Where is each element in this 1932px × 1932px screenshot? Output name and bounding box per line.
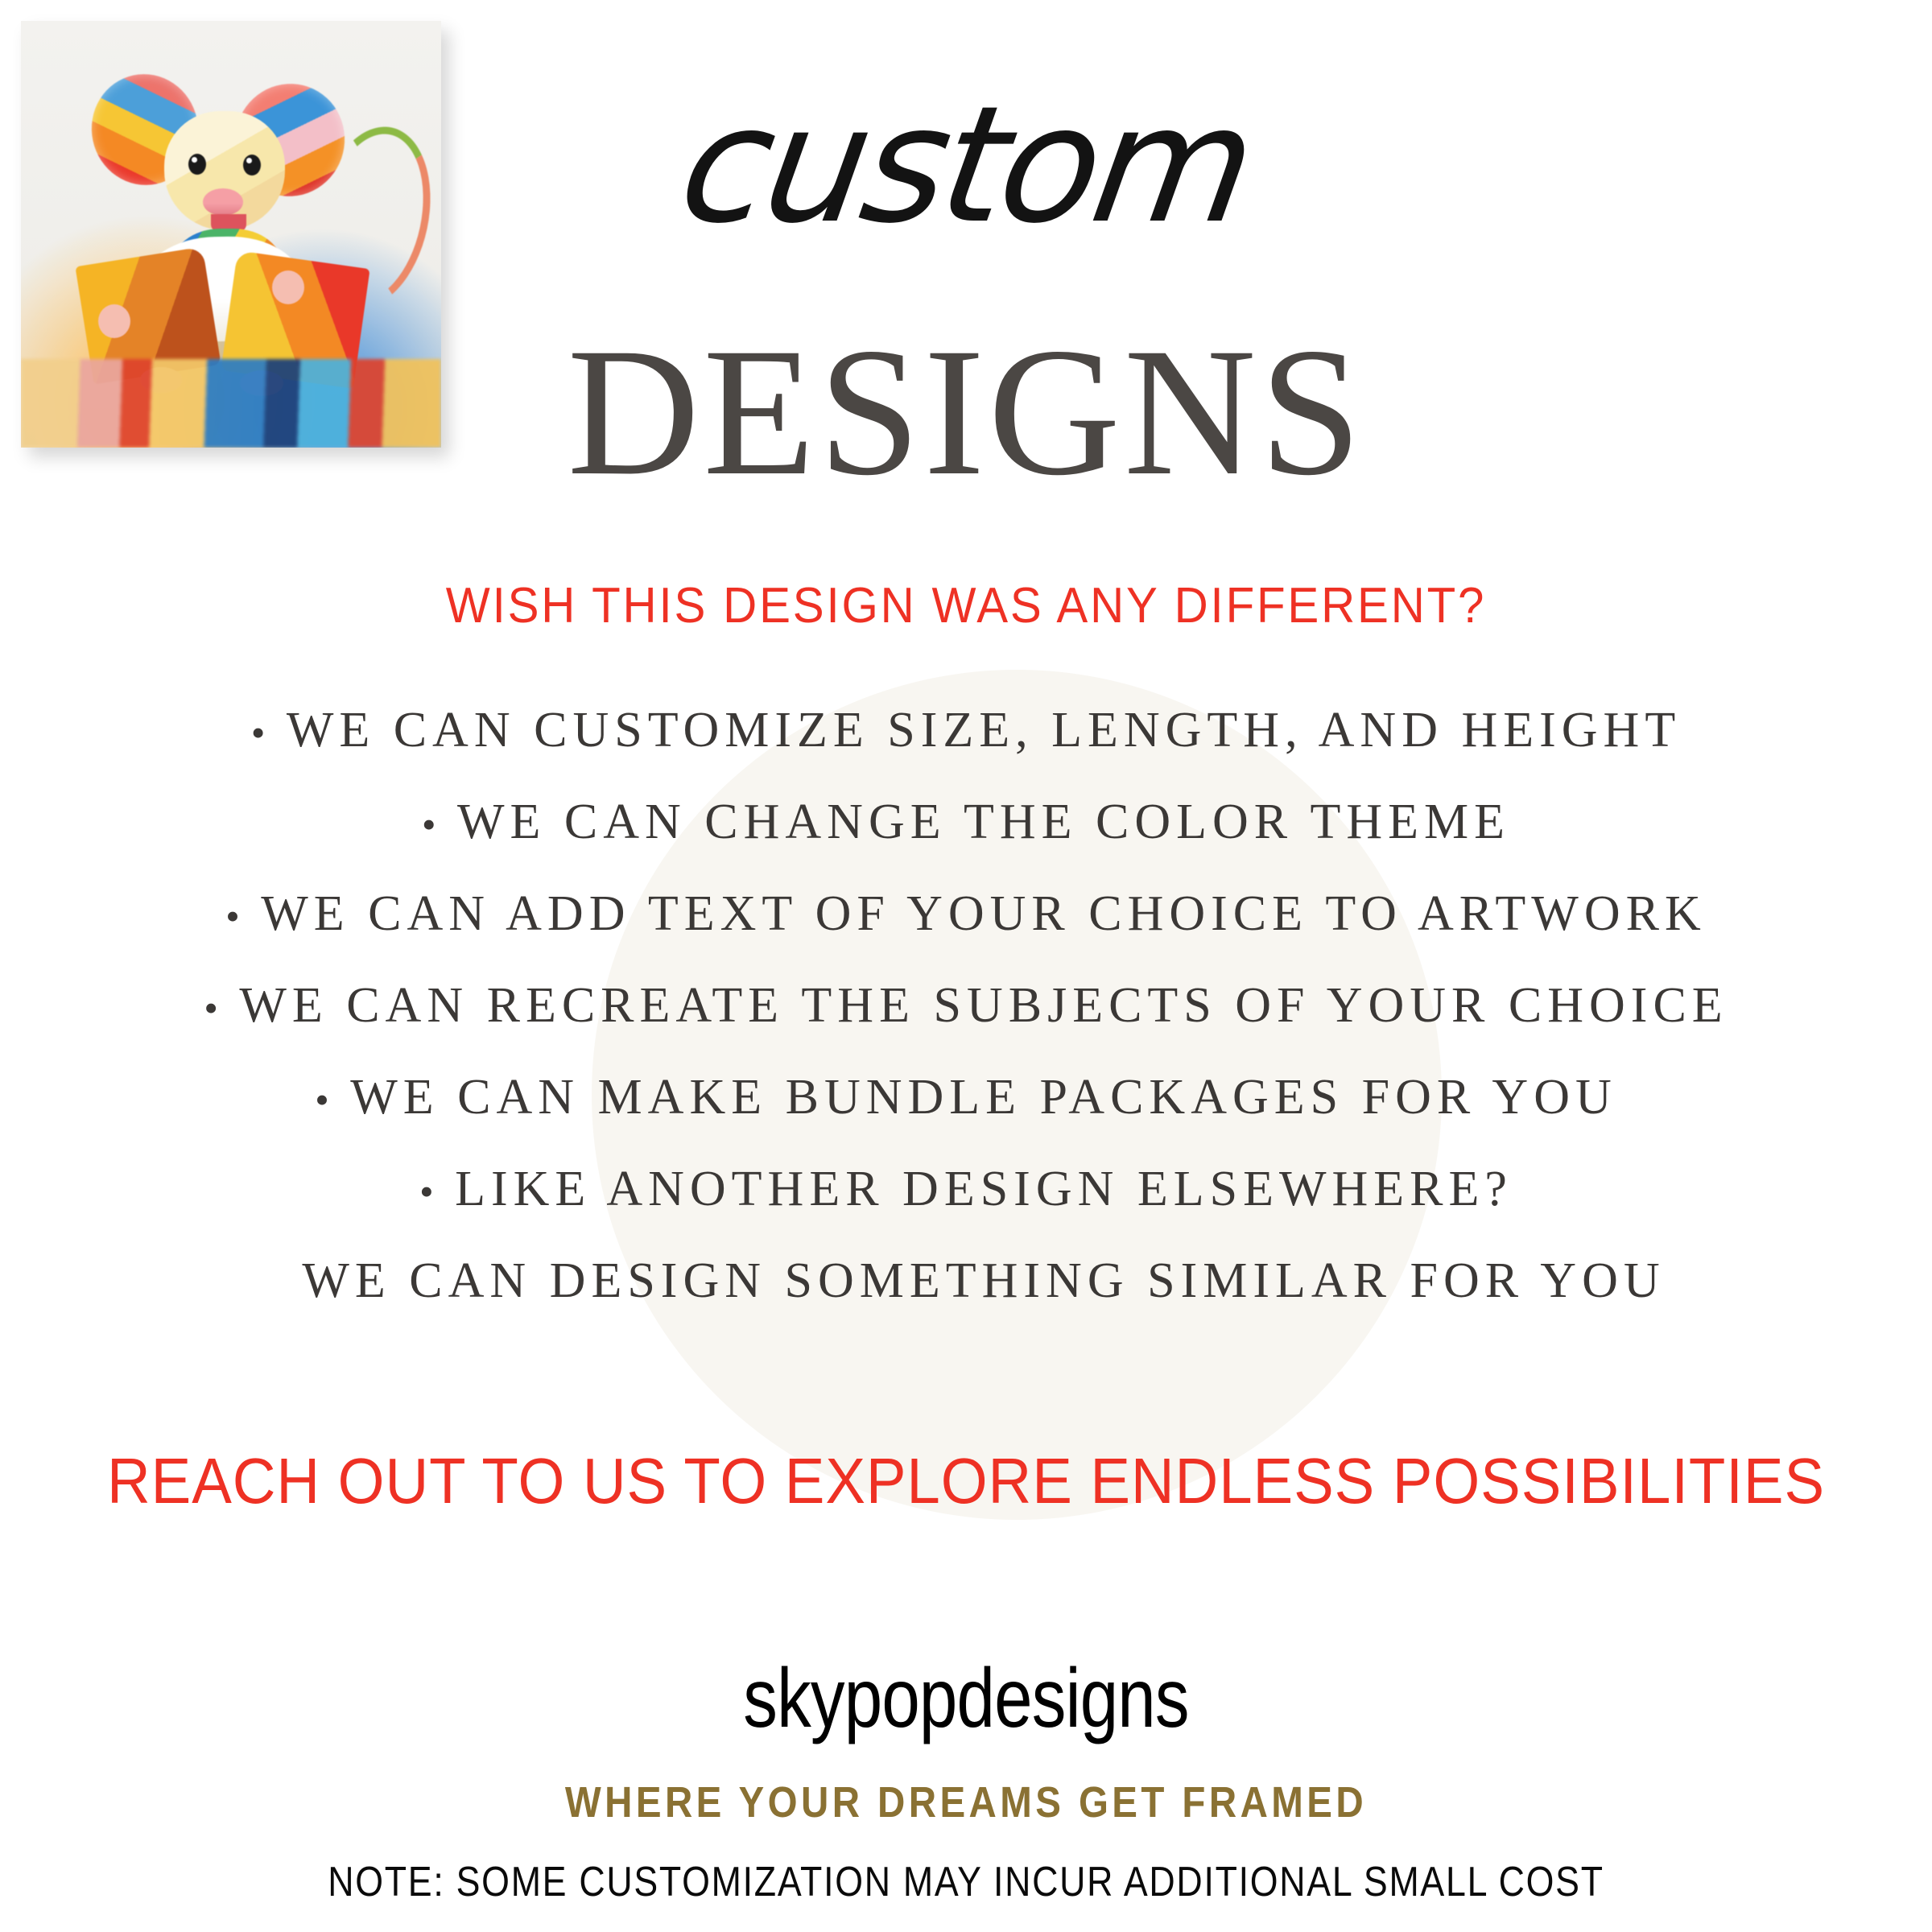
- mouse-eye-highlight-right: [246, 158, 252, 163]
- list-item: • LIKE ANOTHER DESIGN ELSEWHERE?: [0, 1161, 1932, 1253]
- mouse-paw-right: [272, 270, 304, 304]
- mouse-paw-left: [98, 304, 130, 338]
- table-surface-strokes: [21, 359, 441, 448]
- feature-bullet-list: • WE CAN CUSTOMIZE SIZE, LENGTH, AND HEI…: [0, 702, 1932, 1344]
- mouse-eye-right: [243, 155, 261, 175]
- call-to-action-text: REACH OUT TO US TO EXPLORE ENDLESS POSSI…: [68, 1449, 1864, 1513]
- bullet-dot-icon: •: [419, 1171, 455, 1212]
- footer-note: NOTE: SOME CUSTOMIZATION MAY INCUR ADDIT…: [135, 1861, 1797, 1903]
- bullet-dot-icon: •: [204, 988, 239, 1028]
- bullet-dot-icon: •: [251, 712, 287, 753]
- list-item-continuation: • WE CAN DESIGN SOMETHING SIMILAR FOR YO…: [0, 1253, 1932, 1344]
- list-item-label: WE CAN RECREATE THE SUBJECTS OF YOUR CHO…: [239, 977, 1728, 1034]
- list-item-label: LIKE ANOTHER DESIGN ELSEWHERE?: [455, 1161, 1513, 1218]
- list-item: • WE CAN MAKE BUNDLE PACKAGES FOR YOU: [0, 1069, 1932, 1161]
- list-item: • WE CAN CUSTOMIZE SIZE, LENGTH, AND HEI…: [0, 702, 1932, 794]
- list-item: • WE CAN RECREATE THE SUBJECTS OF YOUR C…: [0, 977, 1932, 1069]
- list-item-label: WE CAN ADD TEXT OF YOUR CHOICE TO ARTWOR…: [261, 885, 1706, 943]
- list-item: • WE CAN ADD TEXT OF YOUR CHOICE TO ARTW…: [0, 885, 1932, 977]
- bullet-dot-icon: •: [315, 1080, 350, 1120]
- list-item-label: WE CAN CUSTOMIZE SIZE, LENGTH, AND HEIGH…: [287, 702, 1681, 759]
- bullet-dot-icon: •: [422, 804, 457, 844]
- mouse-nose: [203, 188, 243, 216]
- bullet-dot-icon: •: [225, 896, 261, 936]
- mouse-eye-highlight-left: [192, 157, 197, 163]
- brand-tagline: WHERE YOUR DREAMS GET FRAMED: [116, 1781, 1816, 1824]
- list-item-label: WE CAN DESIGN SOMETHING SIMILAR FOR YOU: [302, 1253, 1665, 1310]
- mouse-eye-left: [188, 154, 206, 175]
- question-tagline: WISH THIS DESIGN WAS ANY DIFFERENT?: [58, 581, 1874, 631]
- list-item-label: WE CAN MAKE BUNDLE PACKAGES FOR YOU: [350, 1069, 1617, 1126]
- artwork-thumbnail-frame[interactable]: [21, 21, 441, 448]
- list-item: • WE CAN CHANGE THE COLOR THEME: [0, 794, 1932, 885]
- custom-designs-poster: custom DESIGNS WISH THIS DESIGN WAS ANY …: [0, 0, 1932, 1932]
- artwork-canvas: [21, 21, 441, 448]
- brand-logo-text: skypopdesigns: [174, 1657, 1758, 1740]
- list-item-label: WE CAN CHANGE THE COLOR THEME: [457, 794, 1510, 851]
